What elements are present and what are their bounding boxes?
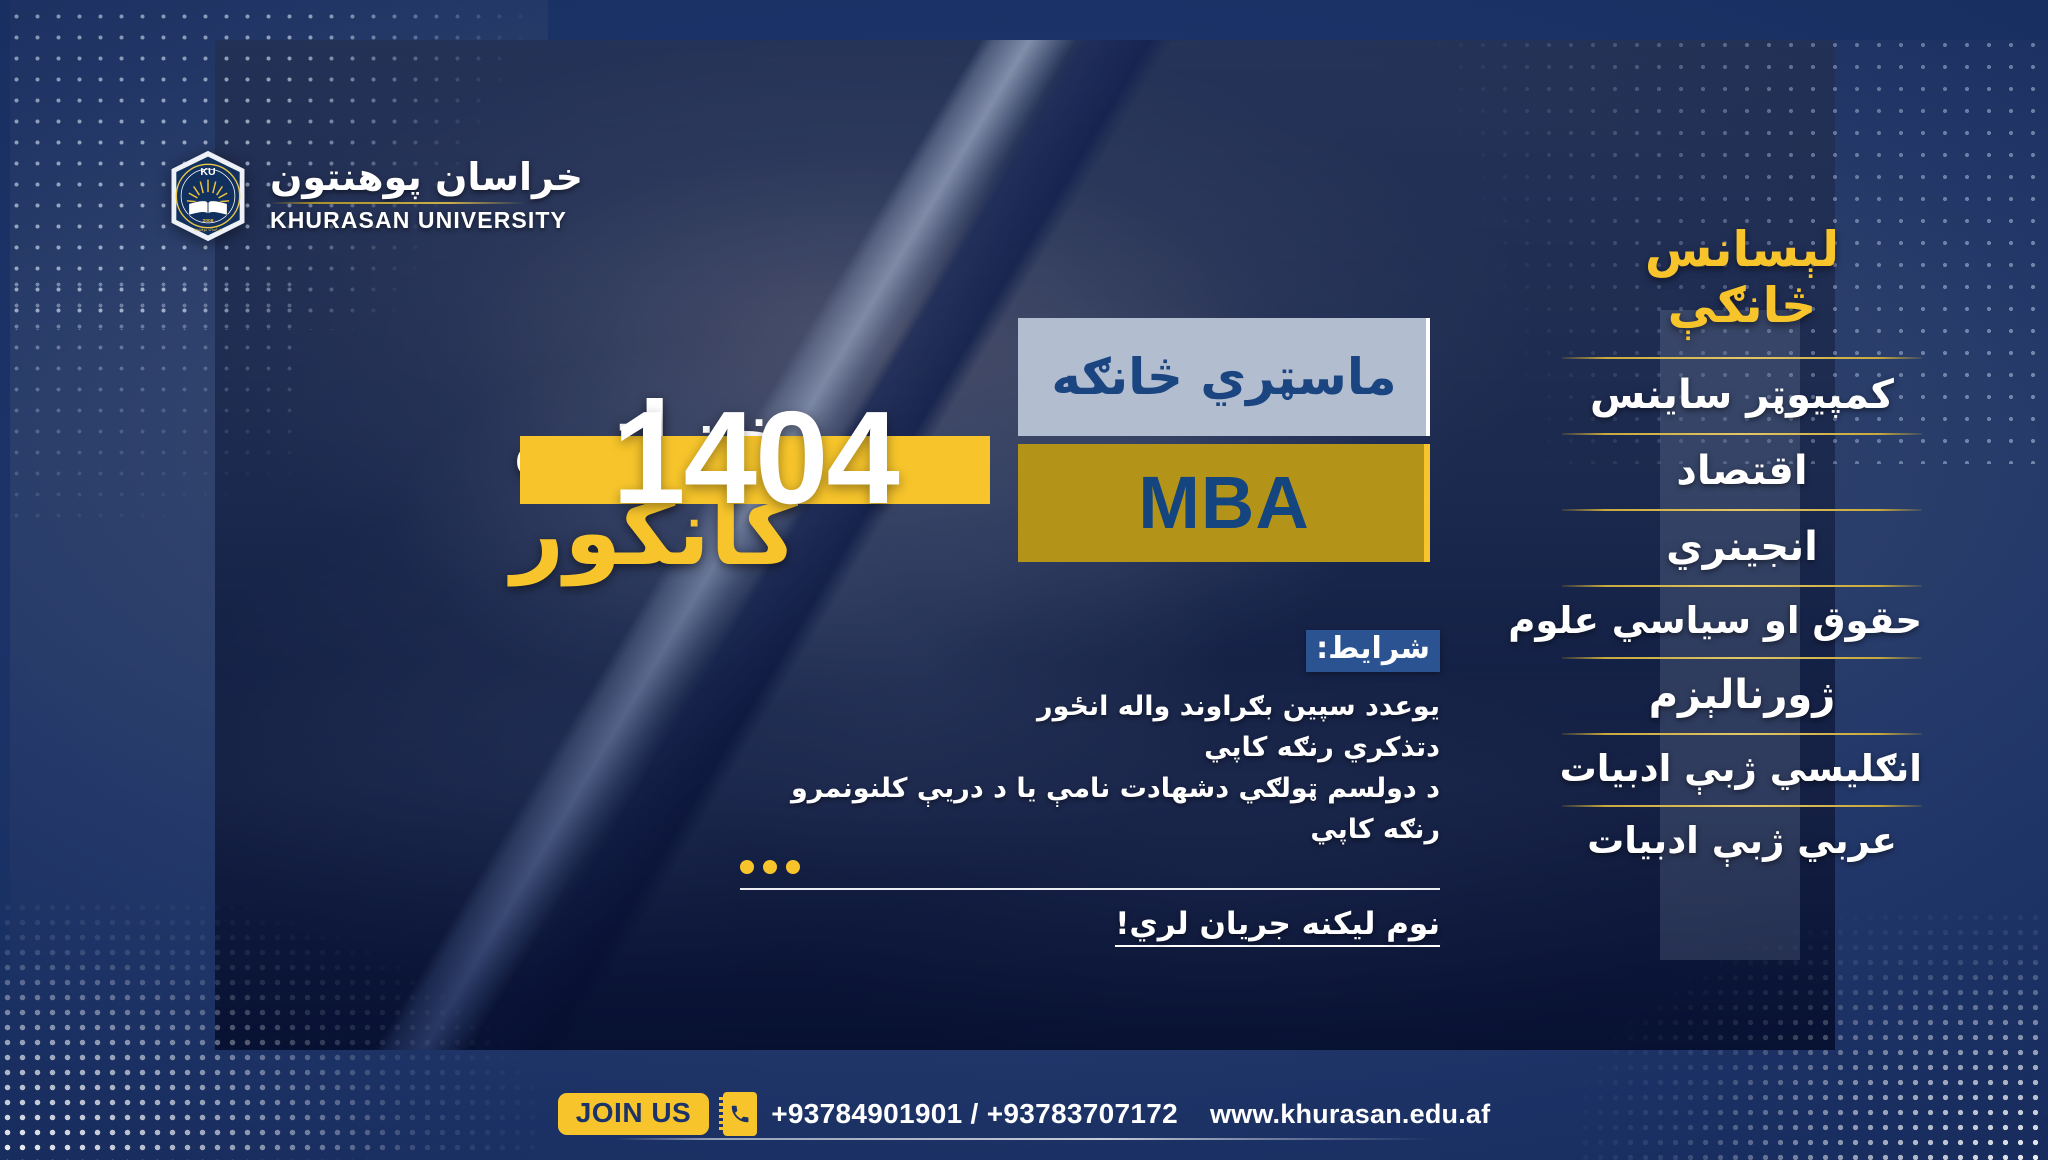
footer-divider (614, 1138, 1434, 1140)
phone-numbers[interactable]: +93784901901 / +93783707172 (771, 1098, 1178, 1130)
poster-canvas: خراسان پوهنتون KHURASAN UNIVERSITY KU 20… (0, 0, 2048, 1160)
year-number: 1404 (520, 392, 990, 524)
mba-label: MBA (1138, 466, 1310, 540)
svg-text:KU: KU (200, 166, 215, 178)
website-url[interactable]: www.khurasan.edu.af (1210, 1099, 1490, 1130)
mba-box: MBA (1018, 444, 1430, 562)
brand-name-pashto: خراسان پوهنتون (270, 158, 583, 198)
masters-program-card[interactable]: ماسټري څانګه MBA (1018, 318, 1430, 562)
join-us-button[interactable]: JOIN US (558, 1093, 710, 1135)
masters-label-box: ماسټري څانګه (1018, 318, 1430, 436)
masters-label: ماسټري څانګه (1051, 352, 1396, 402)
brand-divider (270, 202, 525, 204)
faculty-item-journalism[interactable]: ژورنالېزم (1562, 659, 1922, 733)
svg-text:خراسان پوهنتون: خراسان پوهنتون (194, 227, 223, 232)
brand-name-english: KHURASAN UNIVERSITY (270, 207, 567, 234)
condition-item: دتذکري رنګه کاپي (740, 727, 1440, 768)
footer-contact-group: JOIN US +93784901901 / +93783707172 www.… (558, 1092, 1491, 1136)
year-block: 1404 (520, 392, 990, 512)
faculty-item-arabic-literature[interactable]: عربي ژبې ادبیات (1562, 807, 1922, 877)
faculty-list-title: لېسانس څانګې (1562, 222, 1922, 335)
phone-icon (723, 1092, 757, 1136)
conditions-title: شرایط: (1306, 630, 1440, 672)
brand-text: خراسان پوهنتون KHURASAN UNIVERSITY (270, 158, 583, 234)
registration-open-cta[interactable]: نوم لیکنه جریان لري! (740, 906, 1440, 942)
registration-open-text: نوم لیکنه جریان لري! (1115, 906, 1440, 947)
faculty-item-english-literature[interactable]: انګلیسي ژبې ادبیات (1562, 735, 1922, 805)
faculty-item-computer-science[interactable]: کمپیوټر ساینس (1562, 359, 1922, 433)
condition-item: د دولسم ټولګي دشهادت نامې یا د دریې کلنو… (740, 768, 1440, 850)
faculty-list-block: لېسانس څانګې کمپیوټر ساینس اقتصاد انجینر… (1562, 222, 1922, 878)
crest-year: 2008 (202, 218, 213, 224)
ellipsis-dots-icon (740, 860, 1440, 874)
university-crest-icon: KU 2008 خراسان پوهنتون (160, 148, 256, 244)
brand-lockup: خراسان پوهنتون KHURASAN UNIVERSITY KU 20… (160, 148, 583, 244)
conditions-list: یوعدد سپین بګراوند واله انځور دتذکري رنګ… (740, 686, 1440, 850)
conditions-block: شرایط: یوعدد سپین بګراوند واله انځور دتذ… (740, 630, 1440, 942)
condition-item: یوعدد سپین بګراوند واله انځور (740, 686, 1440, 727)
conditions-divider (740, 888, 1440, 890)
faculty-item-economics[interactable]: اقتصاد (1562, 435, 1922, 509)
footer-bar: JOIN US +93784901901 / +93783707172 www.… (0, 1068, 2048, 1160)
faculty-item-engineering[interactable]: انجینري (1562, 511, 1922, 585)
faculty-item-law-political-science[interactable]: حقوق او سیاسي علوم (1562, 587, 1922, 657)
